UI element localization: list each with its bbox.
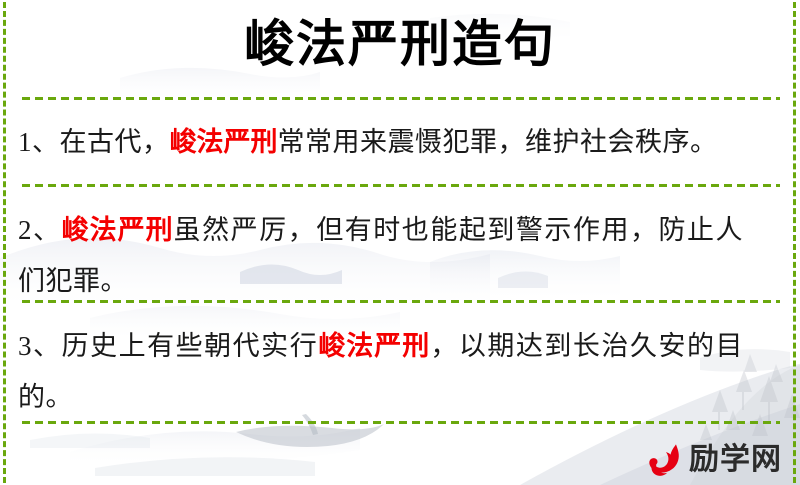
keyword-highlight-2: 峻法严刑 (62, 215, 174, 245)
divider-after-sentence-3 (22, 421, 780, 424)
keyword-highlight-3: 峻法严刑 (318, 331, 430, 361)
sentence-item-1: 1、在古代，峻法严刑常常用来震慑犯罪，维护社会秩序。 (18, 117, 743, 168)
sentence-item-3: 3、历史上有些朝代实行峻法严刑，以期达到长治久安的目的。 (18, 321, 743, 423)
sentence-index-2: 2、 (18, 215, 62, 245)
sentence-text-after-1: 常常用来震慑犯罪，维护社会秩序。 (278, 127, 718, 157)
logo-text: 励学网 (689, 444, 782, 476)
divider-top (22, 97, 780, 100)
page-content: 峻法严刑造句 1、在古代，峻法严刑常常用来震慑犯罪，维护社会秩序。 2、峻法严刑… (0, 0, 800, 485)
sentence-index-3: 3、 (18, 331, 62, 361)
divider-after-sentence-1 (22, 184, 780, 187)
sentence-index-1: 1、 (18, 127, 60, 157)
site-logo[interactable]: 励学网 (647, 441, 782, 479)
sentence-text-before-1: 在古代， (60, 127, 170, 157)
keyword-highlight-1: 峻法严刑 (170, 127, 278, 157)
sentence-item-2: 2、峻法严刑虽然严厉，但有时也能起到警示作用，防止人们犯罪。 (18, 205, 743, 307)
sentence-example-page: 峻法严刑造句 1、在古代，峻法严刑常常用来震慑犯罪，维护社会秩序。 2、峻法严刑… (0, 0, 800, 485)
page-title: 峻法严刑造句 (0, 12, 800, 76)
sentence-text-before-3: 历史上有些朝代实行 (62, 331, 319, 361)
divider-after-sentence-2 (22, 300, 780, 303)
flame-swirl-icon (647, 441, 685, 479)
